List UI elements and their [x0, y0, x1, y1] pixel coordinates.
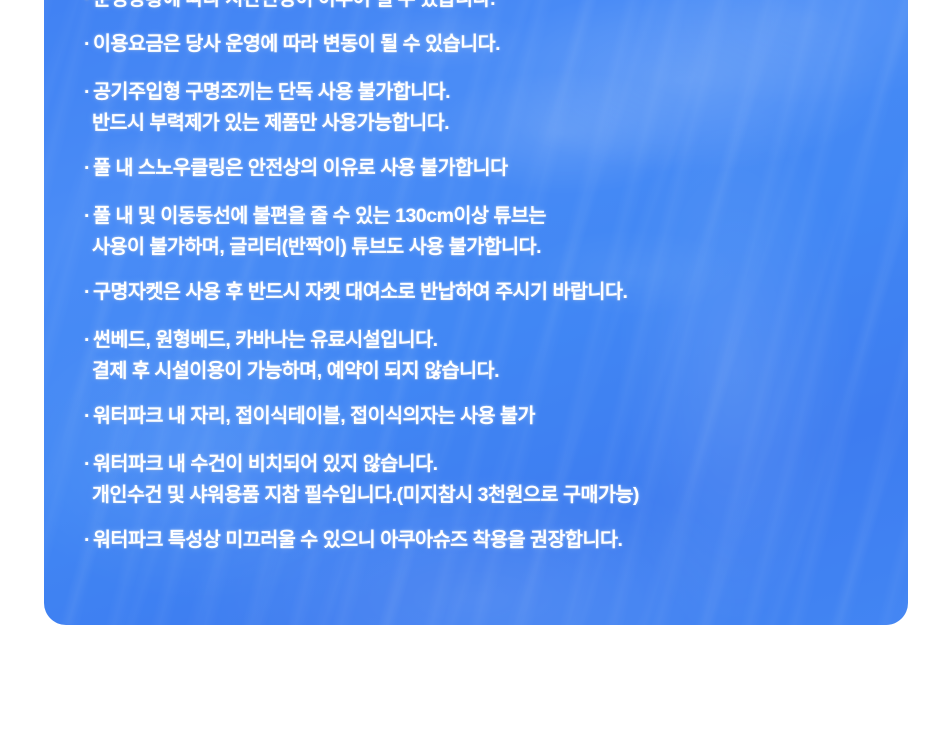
notice-line-continuation: 결제 후 시설이용이 가능하며, 예약이 되지 않습니다.: [84, 356, 499, 387]
notice-text: 사용이 불가하며, 글리터(반짝이) 튜브도 사용 불가합니다.: [92, 236, 541, 258]
notice-text: 워터파크 내 수건이 비치되어 있지 않습니다.: [93, 453, 438, 475]
notice-line: ·썬베드, 원형베드, 카바나는 유료시설입니다.: [84, 325, 499, 356]
notice-item-fee-change: ·이용요금은 당사 운영에 따라 변동이 될 수 있습니다.: [84, 29, 500, 60]
notice-line: ·워터파크 내 수건이 비치되어 있지 않습니다.: [84, 449, 639, 480]
notice-item-bring-your-own-towel: ·워터파크 내 수건이 비치되어 있지 않습니다. 개인수건 및 샤워용품 지참…: [84, 449, 639, 511]
notice-text: 구명자켓은 사용 후 반드시 자켓 대여소로 반납하여 주시기 바랍니다.: [93, 281, 627, 303]
bullet-icon: ·: [84, 201, 93, 232]
notice-text: 결제 후 시설이용이 가능하며, 예약이 되지 않습니다.: [92, 360, 499, 382]
bullet-icon: ·: [84, 29, 93, 60]
notice-line-continuation: 반드시 부력제가 있는 제품만 사용가능합니다.: [84, 108, 450, 139]
notice-text: 썬베드, 원형베드, 카바나는 유료시설입니다.: [93, 329, 438, 351]
notice-line: ·워터파크 내 자리, 접이식테이블, 접이식의자는 사용 불가: [84, 401, 535, 432]
notice-line: ·운영상황에 따라 시간변경이 이루어 질 수 있습니다.: [84, 0, 495, 15]
notice-text: 공기주입형 구명조끼는 단독 사용 불가합니다.: [93, 81, 450, 103]
notice-item-aqua-shoes-recommended: ·워터파크 특성상 미끄러울 수 있으니 아쿠아슈즈 착용을 권장합니다.: [84, 525, 622, 556]
bullet-icon: ·: [84, 153, 93, 184]
notice-card: ·운영상황에 따라 시간변경이 이루어 질 수 있습니다. ·이용요금은 당사 …: [44, 0, 908, 625]
bullet-icon: ·: [84, 0, 93, 15]
notice-item-paid-facilities: ·썬베드, 원형베드, 카바나는 유료시설입니다. 결제 후 시설이용이 가능하…: [84, 325, 499, 387]
notice-list: ·운영상황에 따라 시간변경이 이루어 질 수 있습니다. ·이용요금은 당사 …: [84, 0, 890, 625]
notice-text: 워터파크 특성상 미끄러울 수 있으니 아쿠아슈즈 착용을 권장합니다.: [93, 529, 622, 551]
notice-text: 이용요금은 당사 운영에 따라 변동이 될 수 있습니다.: [93, 33, 500, 55]
bullet-icon: ·: [84, 449, 93, 480]
bullet-icon: ·: [84, 525, 93, 556]
bullet-icon: ·: [84, 325, 93, 356]
notice-text: 운영상황에 따라 시간변경이 이루어 질 수 있습니다.: [93, 0, 495, 10]
notice-text: 반드시 부력제가 있는 제품만 사용가능합니다.: [92, 112, 449, 134]
notice-item-tube-size-limit: ·풀 내 및 이동동선에 불편을 줄 수 있는 130cm이상 튜브는 사용이 …: [84, 201, 546, 263]
notice-item-no-snorkeling: ·풀 내 스노우클링은 안전상의 이유로 사용 불가합니다: [84, 153, 508, 184]
notice-line: ·공기주입형 구명조끼는 단독 사용 불가합니다.: [84, 77, 450, 108]
notice-text: 풀 내 및 이동동선에 불편을 줄 수 있는 130cm이상 튜브는: [93, 205, 546, 227]
notice-item-life-jacket-return: ·구명자켓은 사용 후 반드시 자켓 대여소로 반납하여 주시기 바랍니다.: [84, 277, 627, 308]
notice-item-operation-schedule: ·운영상황에 따라 시간변경이 이루어 질 수 있습니다.: [84, 0, 495, 15]
notice-item-inflatable-life-vest: ·공기주입형 구명조끼는 단독 사용 불가합니다. 반드시 부력제가 있는 제품…: [84, 77, 450, 139]
notice-text: 워터파크 내 자리, 접이식테이블, 접이식의자는 사용 불가: [93, 405, 535, 427]
bullet-icon: ·: [84, 401, 93, 432]
bullet-icon: ·: [84, 77, 93, 108]
notice-line-continuation: 사용이 불가하며, 글리터(반짝이) 튜브도 사용 불가합니다.: [84, 232, 546, 263]
notice-line-continuation: 개인수건 및 샤워용품 지참 필수입니다.(미지참시 3천원으로 구매가능): [84, 480, 639, 511]
notice-text: 개인수건 및 샤워용품 지참 필수입니다.(미지참시 3천원으로 구매가능): [92, 484, 639, 506]
notice-line: ·풀 내 스노우클링은 안전상의 이유로 사용 불가합니다: [84, 153, 508, 184]
notice-text: 풀 내 스노우클링은 안전상의 이유로 사용 불가합니다: [93, 157, 508, 179]
bullet-icon: ·: [84, 277, 93, 308]
notice-item-no-personal-furniture: ·워터파크 내 자리, 접이식테이블, 접이식의자는 사용 불가: [84, 401, 535, 432]
notice-line: ·워터파크 특성상 미끄러울 수 있으니 아쿠아슈즈 착용을 권장합니다.: [84, 525, 622, 556]
notice-line: ·구명자켓은 사용 후 반드시 자켓 대여소로 반납하여 주시기 바랍니다.: [84, 277, 627, 308]
notice-line: ·풀 내 및 이동동선에 불편을 줄 수 있는 130cm이상 튜브는: [84, 201, 546, 232]
notice-line: ·이용요금은 당사 운영에 따라 변동이 될 수 있습니다.: [84, 29, 500, 60]
